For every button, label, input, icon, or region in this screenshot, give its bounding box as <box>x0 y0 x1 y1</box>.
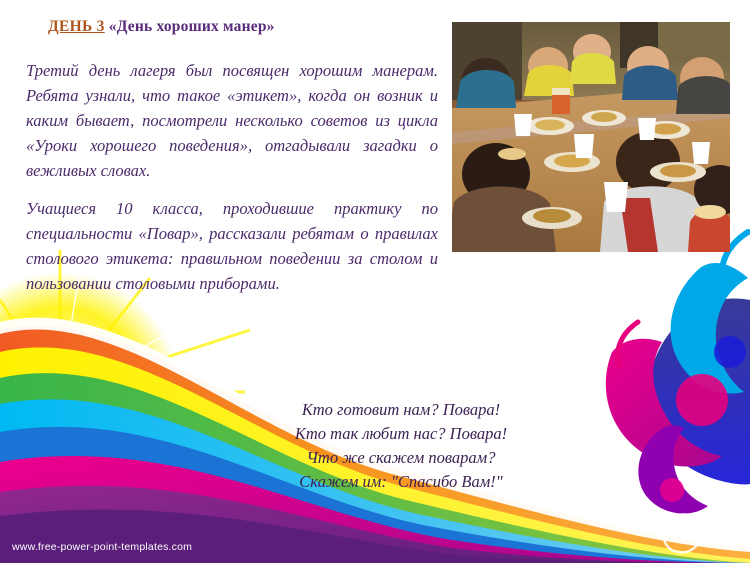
slide-canvas: ДЕНЬ 3 «День хороших манер» Третий день … <box>0 0 750 563</box>
title-rest-label: «День хороших манер» <box>105 18 275 35</box>
poem-line-1: Кто готовит нам? Повара! <box>236 398 566 422</box>
footer-watermark: www.free-power-point-templates.com <box>12 541 192 553</box>
children-eating-at-table-photo <box>452 22 730 252</box>
poem-line-3: Что же скажем поварам? <box>236 446 566 470</box>
poem-line-2: Кто так любит нас? Повара! <box>236 422 566 446</box>
body-paragraph-2: Учащиеся 10 класса, проходившие практику… <box>26 196 438 296</box>
poem-line-4: Скажем им: "Спасибо Вам!" <box>236 470 566 494</box>
poem-block: Кто готовит нам? Повара! Кто так любит н… <box>236 398 566 494</box>
page-title: ДЕНЬ 3 «День хороших манер» <box>48 18 478 36</box>
floral-swirl-decoration <box>606 232 750 552</box>
title-day-label: ДЕНЬ 3 <box>48 18 105 35</box>
body-paragraph-1: Третий день лагеря был посвящен хорошим … <box>26 58 438 183</box>
